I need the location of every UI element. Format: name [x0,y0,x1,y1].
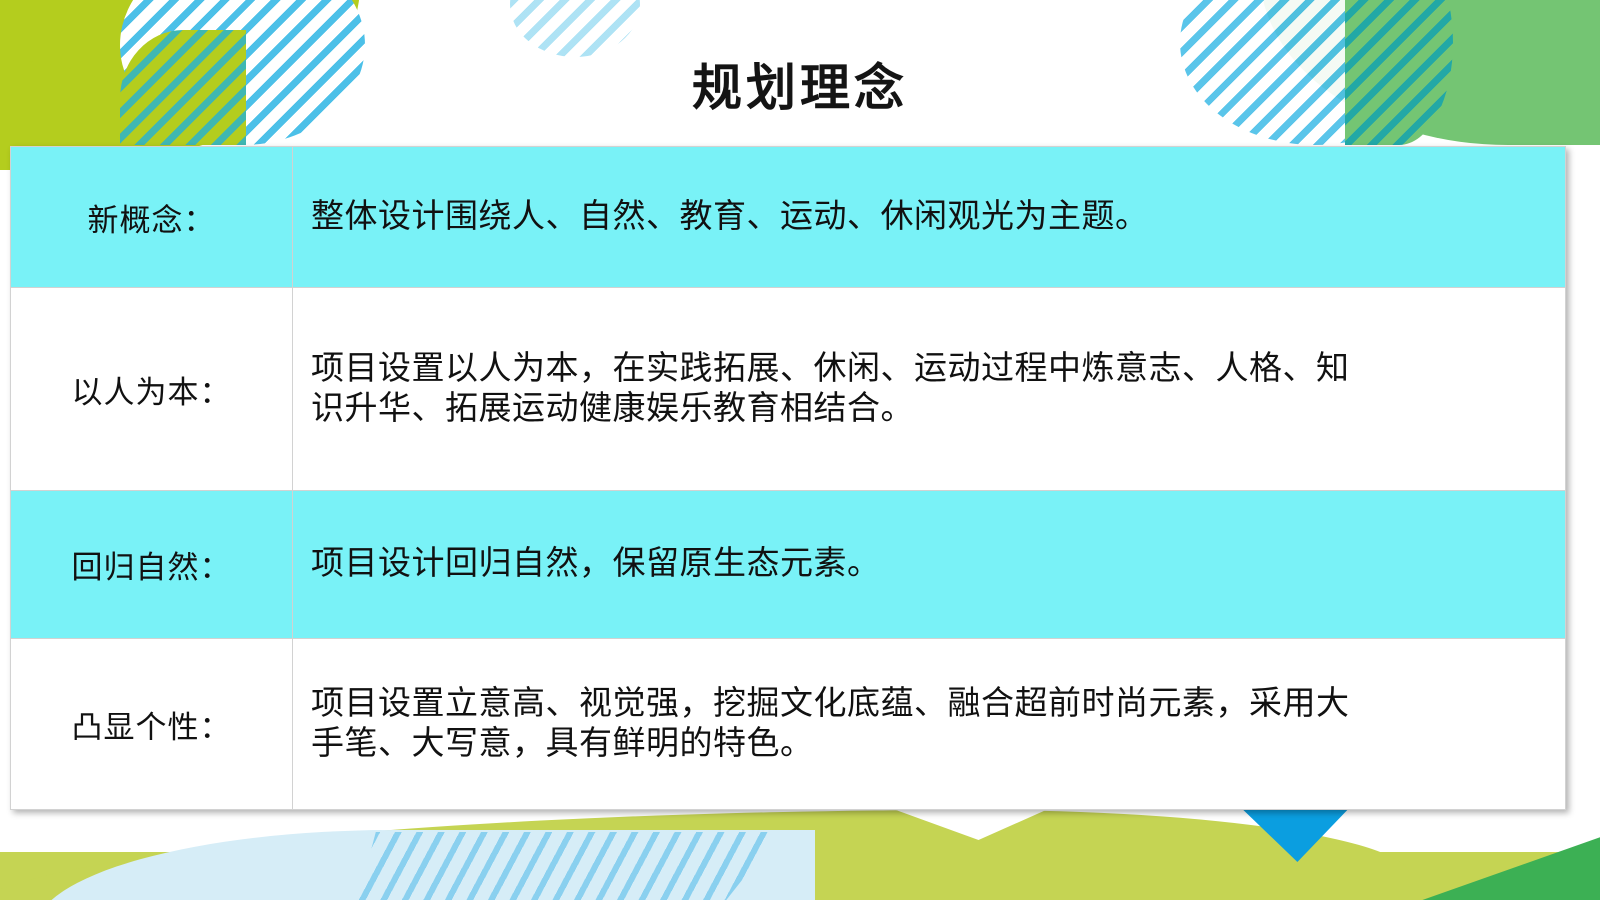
row-content-line: 项目设计回归自然，保留原生态元素。 [311,544,1551,584]
table-row: 新概念： 整体设计围绕人、自然、教育、运动、休闲观光为主题。 [11,147,1566,288]
bottom-right-blue-triangle-shape [1235,802,1355,862]
bottom-center-striped-shape [350,832,780,900]
row-content-line: 手笔、大写意，具有鲜明的特色。 [311,724,1551,764]
concept-table: 新概念： 整体设计围绕人、自然、教育、运动、休闲观光为主题。 以人为本： 项目设… [10,146,1566,810]
row-content-line: 项目设置立意高、视觉强，挖掘文化底蕴、融合超前时尚元素，采用大 [311,684,1551,724]
row-content: 项目设计回归自然，保留原生态元素。 [293,491,1566,639]
row-content: 整体设计围绕人、自然、教育、运动、休闲观光为主题。 [293,147,1566,288]
row-label: 以人为本： [11,288,293,491]
row-content-line: 整体设计围绕人、自然、教育、运动、休闲观光为主题。 [311,197,1551,237]
page-title: 规划理念 [0,48,1600,120]
table-row: 回归自然： 项目设计回归自然，保留原生态元素。 [11,491,1566,639]
bottom-olive-curve-shape [0,810,1410,900]
table-row: 凸显个性： 项目设置立意高、视觉强，挖掘文化底蕴、融合超前时尚元素，采用大 手笔… [11,639,1566,810]
row-label: 回归自然： [11,491,293,639]
bottom-olive-band-shape [0,852,1600,900]
slide-canvas: 规划理念 新概念： 整体设计围绕人、自然、教育、运动、休闲观光为主题。 以人为本… [0,0,1600,900]
row-content: 项目设置立意高、视觉强，挖掘文化底蕴、融合超前时尚元素，采用大 手笔、大写意，具… [293,639,1566,810]
row-label: 新概念： [11,147,293,288]
row-content: 项目设置以人为本，在实践拓展、休闲、运动过程中炼意志、人格、知 识升华、拓展运动… [293,288,1566,491]
bottom-white-notch-shape [885,806,1055,840]
bottom-right-green-triangle-shape [1200,820,1600,900]
table-row: 以人为本： 项目设置以人为本，在实践拓展、休闲、运动过程中炼意志、人格、知 识升… [11,288,1566,491]
row-label: 凸显个性： [11,639,293,810]
row-content-line: 识升华、拓展运动健康娱乐教育相结合。 [311,389,1551,429]
row-content-line: 项目设置以人为本，在实践拓展、休闲、运动过程中炼意志、人格、知 [311,349,1551,389]
bottom-left-light-blue-shape [35,830,815,900]
